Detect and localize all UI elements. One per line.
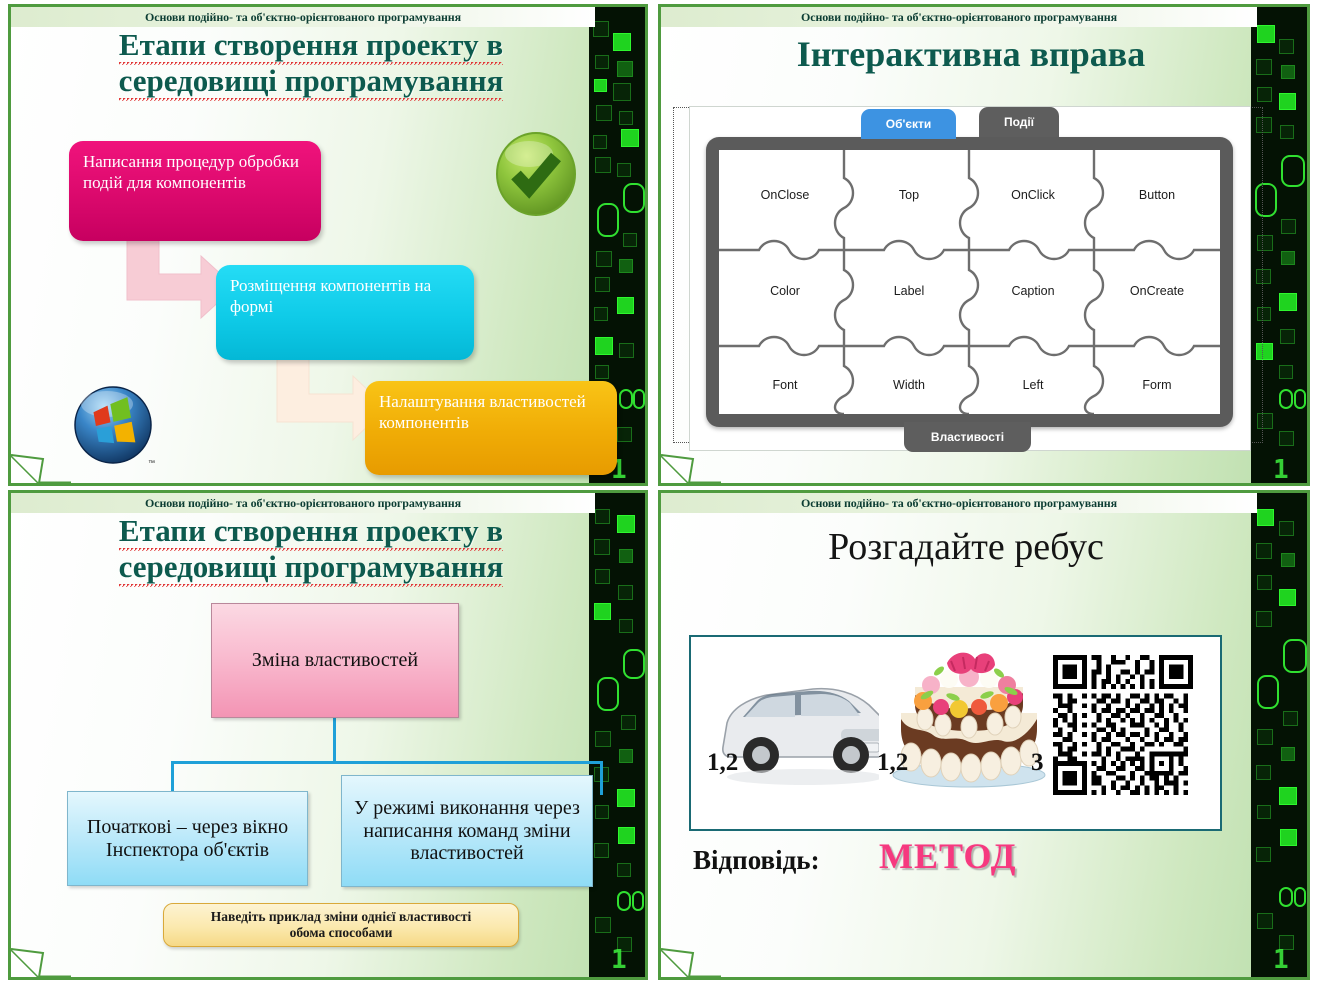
puzzle-board: OnClose Top OnClick Button Color Label C…	[706, 137, 1233, 427]
slide-2-header-text: Основи подійно- та об'єктно-орієнтованог…	[801, 10, 1117, 25]
answer-label: Відповідь:	[693, 845, 820, 876]
matrix-decoration-strip: 1	[1251, 493, 1307, 977]
windows-logo-icon: ™	[68, 379, 158, 471]
slide-1-header-bar: Основи подійно- та об'єктно-орієнтованог…	[11, 7, 595, 27]
slide-deck: 1 Основи подійно- та об'єктно-орієнтован…	[0, 0, 1326, 996]
slide-4-background: 1 Основи подійно- та об'єктно-орієнтован…	[658, 490, 1310, 980]
puzzle-piece-r3c3[interactable]: Left	[971, 378, 1095, 392]
slide-2-header-bar: Основи подійно- та об'єктно-орієнтованог…	[661, 7, 1257, 27]
slide-4-header-text: Основи подійно- та об'єктно-орієнтованог…	[801, 496, 1117, 511]
rebus-frame: 1,2	[689, 635, 1222, 831]
slide-cell-4: 1 Основи подійно- та об'єктно-орієнтован…	[656, 490, 1326, 996]
step-configure-properties[interactable]: Налаштування властивостей компонентів	[365, 381, 617, 475]
connector-root-vertical	[333, 717, 336, 763]
step-2-label: Розміщення компонентів на формі	[230, 276, 431, 316]
puzzle-piece-r2c4[interactable]: OnCreate	[1095, 284, 1219, 298]
slide-3-title-line-2: середовищі програмування	[119, 551, 504, 587]
child-left-label: Початкові – через вікно Інспектора об'єк…	[78, 816, 297, 862]
child-box-runtime-commands[interactable]: У режимі виконання через написання коман…	[341, 775, 593, 887]
slide-3-title-line-1: Етапи створення проекту в	[119, 515, 503, 551]
root-box-label: Зміна властивостей	[252, 649, 418, 672]
root-box-change-properties[interactable]: Зміна властивостей	[211, 603, 459, 718]
tab-events-label: Події	[1004, 115, 1034, 129]
slide-1-title: Етапи створення проекту в середовищі про…	[21, 29, 601, 101]
slide-1-background: 1 Основи подійно- та об'єктно-орієнтован…	[8, 4, 648, 486]
rebus-number-2: 1,2	[877, 749, 908, 777]
slide-3-background: 1 Основи подійно- та об'єктно-орієнтован…	[8, 490, 648, 980]
slide-cell-3: 1 Основи подійно- та об'єктно-орієнтован…	[0, 490, 656, 996]
puzzle-piece-r1c1[interactable]: OnClose	[723, 188, 847, 202]
slide-1-header-text: Основи подійно- та об'єктно-орієнтованог…	[145, 10, 461, 25]
connector-left-down	[171, 761, 174, 795]
slide-3-title: Етапи створення проекту в середовищі про…	[21, 515, 601, 587]
puzzle-piece-r2c1[interactable]: Color	[723, 284, 847, 298]
puzzle-piece-r3c1[interactable]: Font	[723, 378, 847, 392]
tab-properties[interactable]: Властивості	[904, 422, 1031, 452]
callout-line-1: Наведіть приклад зміни однієї властивост…	[211, 909, 471, 925]
slide-1-title-line-1: Етапи створення проекту в	[119, 29, 503, 65]
green-check-badge-icon	[493, 130, 579, 218]
slide-2-background: 1 Основи подійно- та об'єктно-орієнтован…	[658, 4, 1310, 486]
slide-3-header-bar: Основи подійно- та об'єктно-орієнтованог…	[11, 493, 595, 513]
slide-2-title: Інтерактивна вправа	[681, 33, 1261, 75]
tab-events[interactable]: Події	[979, 107, 1059, 137]
slide-cell-1: 1 Основи подійно- та об'єктно-орієнтован…	[0, 0, 656, 490]
callout-line-2: обома способами	[211, 925, 471, 941]
tab-objects[interactable]: Об'єкти	[861, 109, 956, 139]
svg-text:™: ™	[148, 460, 155, 467]
connector-horizontal	[171, 761, 603, 764]
slide-cell-2: 1 Основи подійно- та об'єктно-орієнтован…	[656, 0, 1326, 490]
slide-4-title: Розгадайте ребус	[681, 525, 1251, 569]
step-write-event-handlers[interactable]: Написання процедур обробки подій для ком…	[69, 141, 321, 241]
tab-properties-label: Властивості	[931, 430, 1004, 444]
puzzle-piece-r1c2[interactable]: Top	[847, 188, 971, 202]
child-box-initial-inspector[interactable]: Початкові – через вікно Інспектора об'єк…	[67, 791, 308, 886]
puzzle-piece-r2c2[interactable]: Label	[847, 284, 971, 298]
task-callout[interactable]: Наведіть приклад зміни однієї властивост…	[163, 903, 519, 947]
answer-word: МЕТОД	[879, 835, 1017, 877]
puzzle-board-inner: OnClose Top OnClick Button Color Label C…	[719, 150, 1220, 414]
puzzle-piece-r1c3[interactable]: OnClick	[971, 188, 1095, 202]
slide-stages-1[interactable]: 1 Основи подійно- та об'єктно-орієнтован…	[8, 4, 648, 486]
page-fold-corner	[659, 933, 721, 979]
slide-stages-2[interactable]: 1 Основи подійно- та об'єктно-орієнтован…	[8, 490, 648, 980]
slide-1-title-line-2: середовищі програмування	[119, 65, 504, 101]
qr-code-picture	[1053, 655, 1193, 795]
child-right-label: У режимі виконання через написання коман…	[350, 797, 584, 865]
slide-3-header-text: Основи подійно- та об'єктно-орієнтованог…	[145, 496, 461, 511]
rebus-number-3: 3	[1031, 749, 1044, 777]
puzzle-piece-r3c2[interactable]: Width	[847, 378, 971, 392]
connector-right-down	[600, 761, 603, 795]
step-3-label: Налаштування властивостей компонентів	[379, 392, 586, 432]
puzzle-piece-r2c3[interactable]: Caption	[971, 284, 1095, 298]
tab-objects-label: Об'єкти	[886, 117, 932, 131]
slide-rebus[interactable]: 1 Основи подійно- та об'єктно-орієнтован…	[658, 490, 1310, 980]
slide-4-header-bar: Основи подійно- та об'єктно-орієнтованог…	[661, 493, 1257, 513]
puzzle-piece-r3c4[interactable]: Form	[1095, 378, 1219, 392]
rebus-number-1: 1,2	[707, 749, 738, 777]
slide-interactive-exercise[interactable]: 1 Основи подійно- та об'єктно-орієнтован…	[658, 4, 1310, 486]
puzzle-piece-r1c4[interactable]: Button	[1095, 188, 1219, 202]
step-1-label: Написання процедур обробки подій для ком…	[83, 152, 299, 192]
page-fold-corner	[9, 439, 71, 485]
page-fold-corner	[9, 933, 71, 979]
step-place-components[interactable]: Розміщення компонентів на формі	[216, 265, 474, 360]
